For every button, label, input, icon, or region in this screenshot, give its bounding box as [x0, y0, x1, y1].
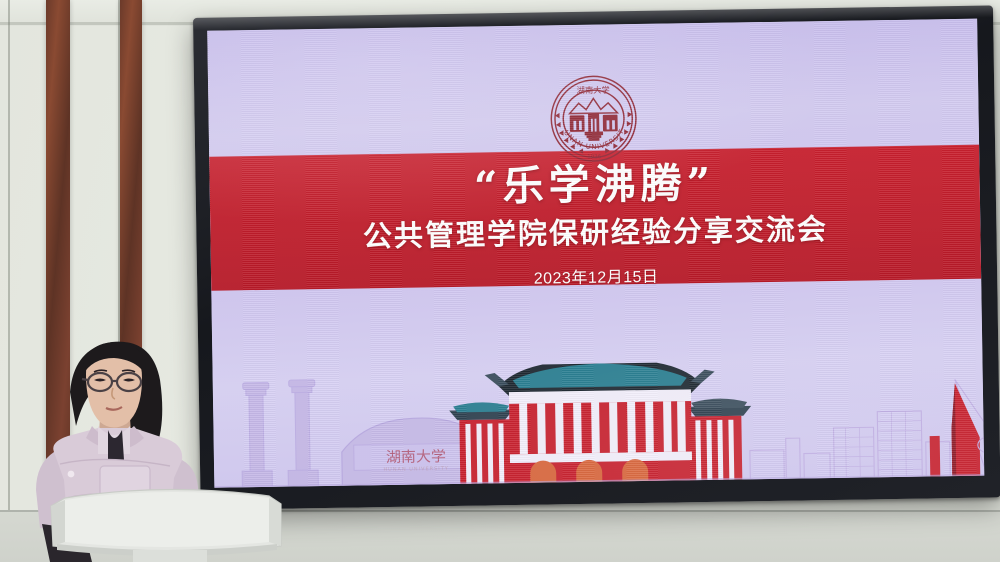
emblem-chinese-name: 湖南大学: [577, 85, 610, 96]
red-angular-landmark: [929, 378, 985, 477]
conference-room: 湖南大学 HUNAN UNIVERSITY 1926 “乐学沸腾” 公共管理学院…: [0, 0, 1000, 562]
display-screen: 湖南大学 HUNAN UNIVERSITY 1926 “乐学沸腾” 公共管理学院…: [207, 19, 984, 488]
wall-panel-seam: [8, 0, 10, 562]
classical-columns: [241, 379, 319, 487]
modern-campus-buildings: [749, 410, 950, 479]
hunan-university-emblem: 湖南大学 HUNAN UNIVERSITY 1926: [547, 72, 641, 170]
emblem-founding-year: 1926: [587, 154, 602, 160]
wall-mounted-display[interactable]: 湖南大学 HUNAN UNIVERSITY 1926 “乐学沸腾” 公共管理学院…: [193, 5, 1000, 510]
svg-text:HUNAN UNIVERSITY: HUNAN UNIVERSITY: [383, 466, 448, 473]
campus-skyline-illustration: 湖南大学 HUNAN UNIVERSITY: [212, 320, 984, 487]
slide-text-block: “乐学沸腾” 公共管理学院保研经验分享交流会 2023年12月15日: [209, 158, 981, 294]
entrance-arches: [530, 459, 648, 483]
monument-calligraphy: 湖南大学: [386, 448, 446, 466]
lectern: [47, 480, 284, 562]
yuelu-academy-building: [484, 361, 716, 483]
jacket-button: [68, 471, 75, 478]
emblem-english-name: HUNAN UNIVERSITY: [547, 72, 627, 152]
